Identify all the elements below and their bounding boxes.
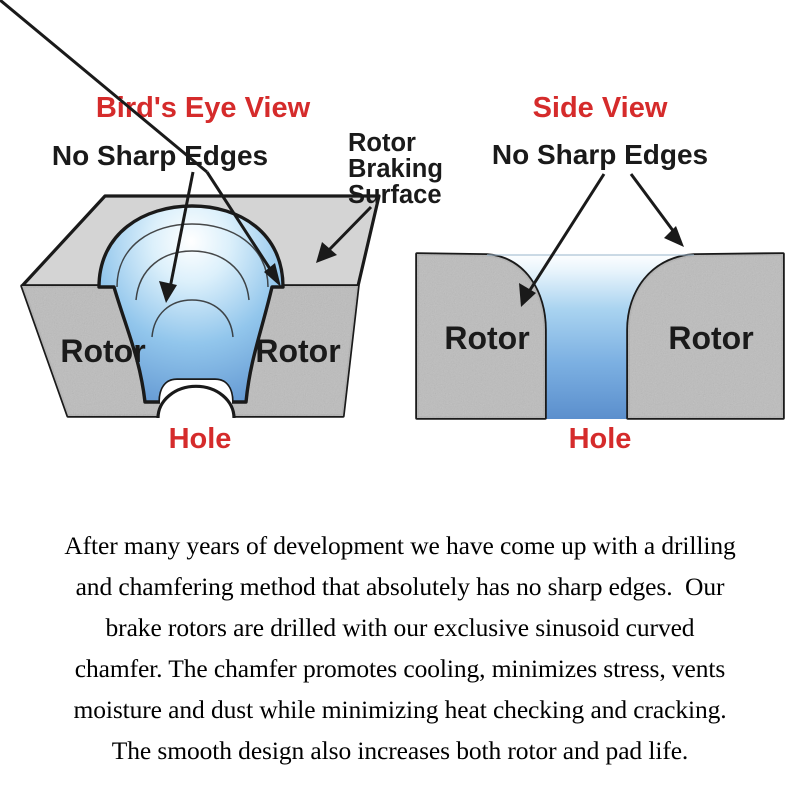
caption-line: brake rotors are drilled with our exclus… (0, 607, 800, 648)
hole-label-be: Hole (169, 423, 232, 455)
rotor-diagrams-svg: Bird's Eye View No Sharp Edges Rotor Bra… (0, 0, 800, 470)
rotor-label-right-sv: Rotor (668, 320, 753, 356)
no-sharp-edges-label-right: No Sharp Edges (492, 139, 708, 170)
caption-line: and chamfering method that absolutely ha… (0, 566, 800, 607)
page-root: Bird's Eye View No Sharp Edges Rotor Bra… (0, 0, 800, 800)
rbs-line-3: Surface (348, 181, 442, 209)
rotor-label-left-be: Rotor (60, 333, 145, 369)
rotor-braking-surface-label: Rotor Braking Surface (348, 129, 450, 209)
caption-line: The smooth design also increases both ro… (0, 730, 800, 771)
caption-paragraph: After many years of development we have … (0, 525, 800, 771)
figure-area: Bird's Eye View No Sharp Edges Rotor Bra… (0, 0, 800, 470)
rotor-label-right-be: Rotor (255, 333, 340, 369)
caption-line: chamfer. The chamfer promotes cooling, m… (0, 648, 800, 689)
caption-line: moisture and dust while minimizing heat … (0, 689, 800, 730)
caption-line: After many years of development we have … (0, 525, 800, 566)
no-sharp-edges-arrow-right-sv (631, 174, 684, 247)
rbs-line-1: Rotor (348, 129, 416, 157)
rbs-line-2: Braking (348, 155, 443, 183)
hole-label-sv: Hole (569, 423, 632, 455)
rotor-label-left-sv: Rotor (444, 320, 529, 356)
no-sharp-edges-label-left: No Sharp Edges (52, 140, 268, 171)
side-view-title: Side View (533, 92, 668, 124)
birds-eye-view-diagram: Bird's Eye View No Sharp Edges Rotor Bra… (0, 0, 450, 455)
side-view-diagram: Side View No Sharp Edges Rotor Rotor Hol… (416, 92, 784, 455)
